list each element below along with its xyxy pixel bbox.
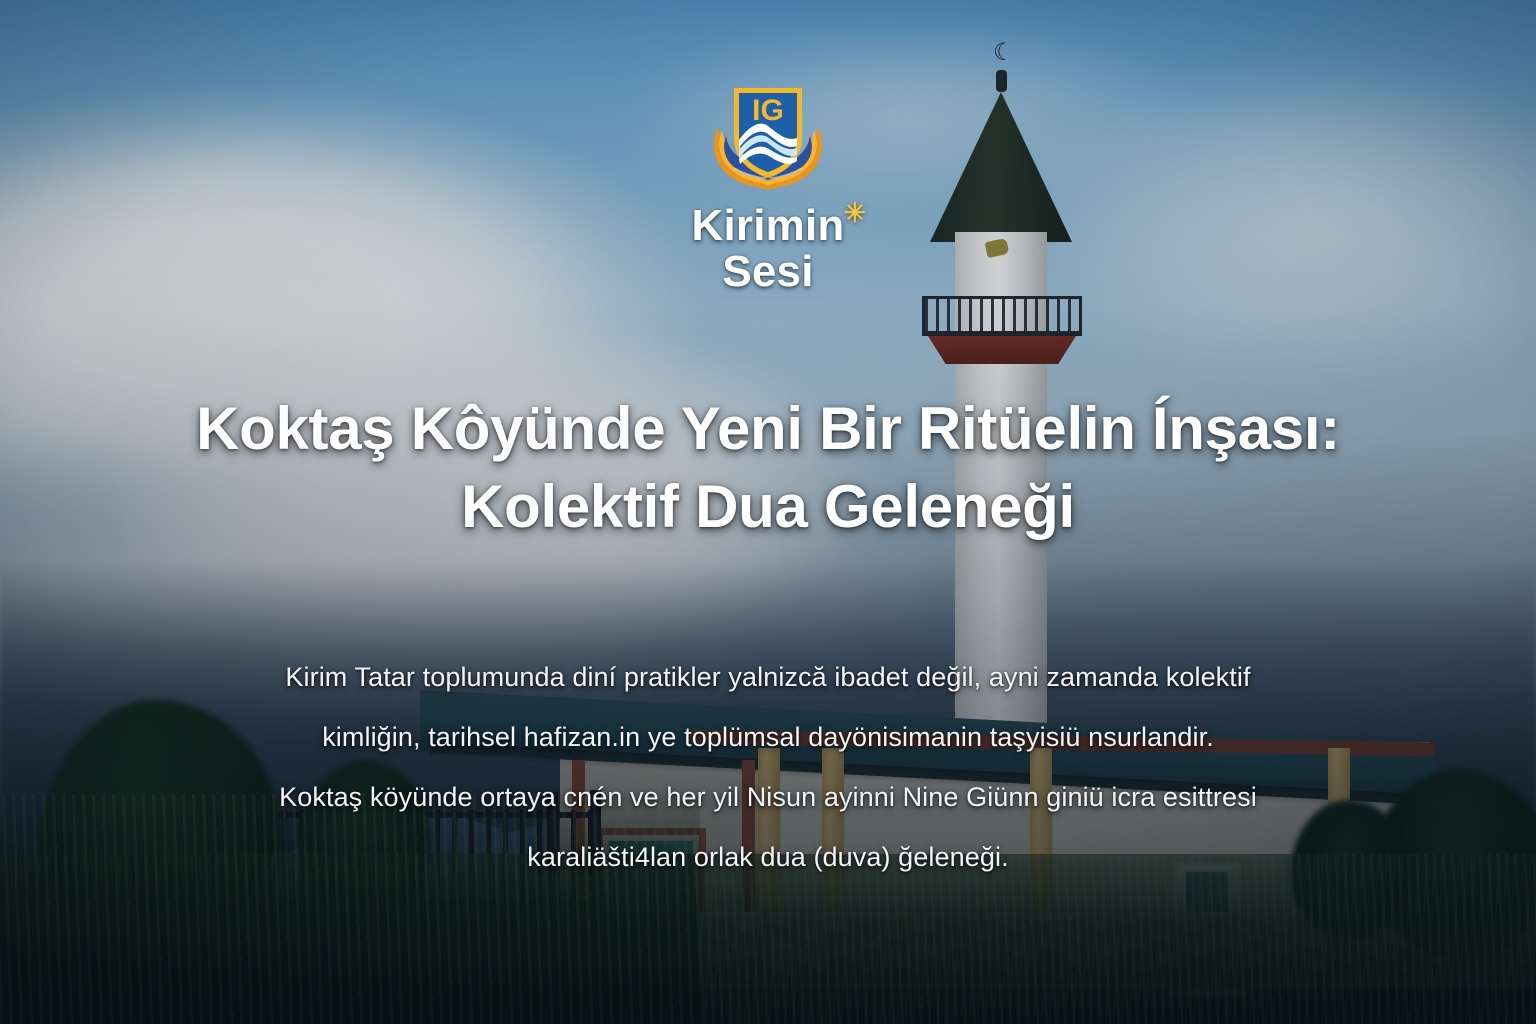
page-title-line1: Koktaş Kôyünde Yeni Bir Ritüelin Ínşası: [153, 390, 1383, 468]
shield-ig-logo-icon: IG [704, 74, 832, 196]
body-line-1: Kirim Tatar toplumunda diní pratikler ya… [138, 648, 1398, 708]
body-line-2: kimliğin, tarihsel hafizan.in ye toplüms… [138, 708, 1398, 768]
brand-name-line2: Sesi [692, 250, 845, 294]
body-paragraph: Kirim Tatar toplumunda diní pratikler ya… [138, 648, 1398, 888]
brand-name-line1-text: Kirimin [692, 201, 845, 250]
page-title-line2: Kolektif Dua Geleneği [153, 468, 1383, 546]
body-line-3: Koktaş köyünde ortaya cnén ve her yil Ni… [138, 768, 1398, 828]
brand-name-line1: Kirimin ✳ [692, 204, 845, 248]
svg-text:IG: IG [752, 94, 784, 127]
brand-star-icon: ✳ [844, 200, 867, 227]
poster-canvas: ☾ [0, 0, 1536, 1024]
body-line-4: karaliäšti4lan orlak dua (duva) ğeleneği… [138, 828, 1398, 888]
poster-content: IG Kirimin ✳ Sesi Koktaş Kôyünde Yeni Bi… [0, 0, 1536, 1024]
brand-lockup: IG Kirimin ✳ Sesi [692, 74, 845, 294]
page-title: Koktaş Kôyünde Yeni Bir Ritüelin Ínşası:… [153, 390, 1383, 546]
brand-name: Kirimin ✳ Sesi [692, 204, 845, 294]
